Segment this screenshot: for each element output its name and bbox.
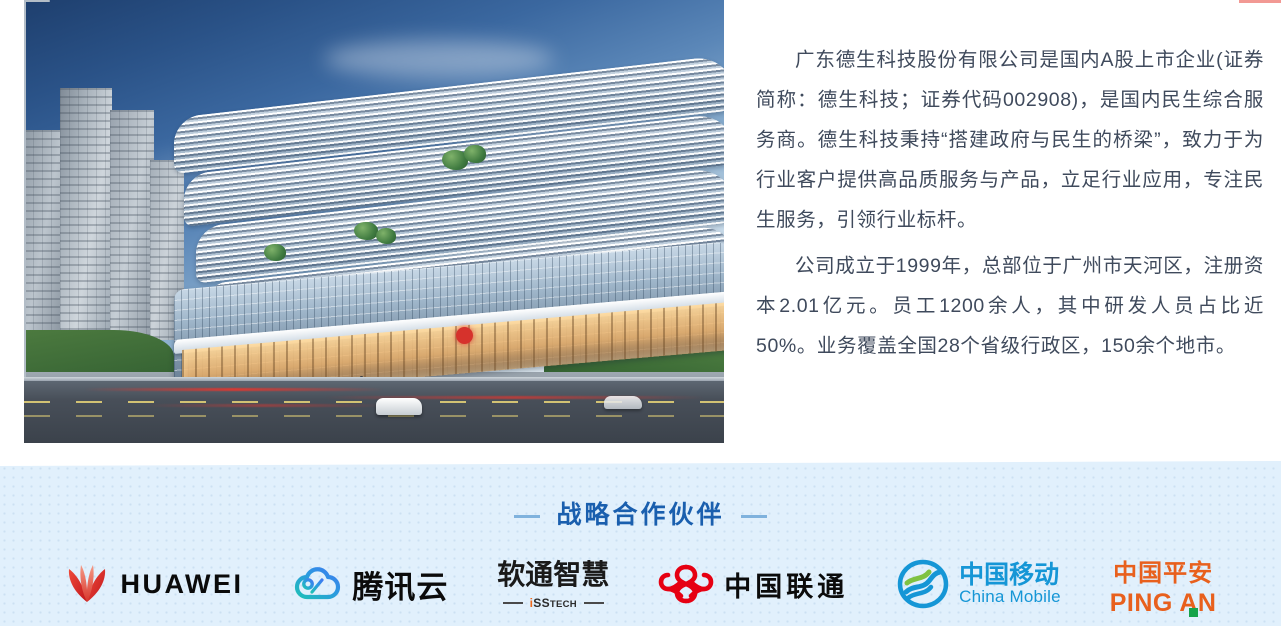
company-description: 广东德生科技股份有限公司是国内A股上市企业(证券简称：德生科技；证券代码0029… xyxy=(756,40,1264,366)
car xyxy=(604,396,642,409)
shop-sign-icon xyxy=(456,327,473,344)
china-mobile-name-cn: 中国移动 xyxy=(959,562,1061,589)
ping-an-name-cn: 中国平安 xyxy=(1113,553,1213,588)
isstech-tech: TECH xyxy=(550,599,577,610)
strategic-partners-section: 战略合作伙伴 xyxy=(0,455,1281,626)
tencent-cloud-icon xyxy=(292,564,342,604)
about-paragraph-2: 公司成立于1999年，总部位于广州市天河区，注册资本2.01亿元。员工1200余… xyxy=(756,246,1264,366)
isstech-subtitle: iSSTECH xyxy=(503,596,604,610)
china-unicom-name: 中国联通 xyxy=(724,565,848,604)
china-mobile-name-en: China Mobile xyxy=(959,588,1061,606)
isstech-name-cn: 软通智慧 xyxy=(497,553,609,593)
light-trail xyxy=(84,388,384,391)
about-paragraph-1: 广东德生科技股份有限公司是国内A股上市企业(证券简称：德生科技；证券代码0029… xyxy=(756,40,1264,240)
headquarters-building-image xyxy=(24,0,724,443)
terrace-tree xyxy=(376,228,396,244)
ping-an-name-en: PING AN xyxy=(1110,589,1217,618)
subtitle-dash-left xyxy=(503,602,523,604)
partner-logo-china-mobile[interactable]: 中国移动 China Mobile xyxy=(897,553,1061,615)
street-lamp xyxy=(24,100,26,186)
huawei-wordmark: HUAWEI xyxy=(120,569,243,600)
terrace-tree xyxy=(354,222,378,240)
terrace-tree xyxy=(264,244,286,261)
partner-logo-china-unicom[interactable]: 中国联通 xyxy=(658,553,848,615)
tencent-cloud-name: 腾讯云 xyxy=(352,562,448,607)
title-dash-left xyxy=(514,515,540,518)
subtitle-dash-right xyxy=(584,602,604,604)
isstech-ss: SS xyxy=(533,596,550,610)
lane-marking xyxy=(24,415,724,417)
ping-an-wordmark: PING AN xyxy=(1110,589,1217,617)
china-unicom-knot-icon xyxy=(658,561,714,607)
car xyxy=(376,398,422,415)
title-dash-right xyxy=(741,515,767,518)
huawei-flower-icon xyxy=(64,562,110,606)
partners-section-title: 战略合作伙伴 xyxy=(0,495,1281,531)
partner-logo-row: HUAWEI 腾讯云 软通智慧 xyxy=(0,548,1281,620)
partner-logo-huawei[interactable]: HUAWEI xyxy=(64,553,243,615)
ping-an-accent-square xyxy=(1189,608,1198,617)
partner-logo-isstech[interactable]: 软通智慧 iSSTECH xyxy=(497,553,609,615)
page-root: 广东德生科技股份有限公司是国内A股上市企业(证券简称：德生科技；证券代码0029… xyxy=(0,0,1281,626)
residential-highrise xyxy=(110,110,154,338)
partner-logo-ping-an[interactable]: 中国平安 PING AN xyxy=(1110,553,1217,615)
residential-highrise xyxy=(24,130,64,340)
terrace-tree xyxy=(464,145,486,163)
cloud xyxy=(324,40,554,78)
top-accent-bar xyxy=(1239,0,1281,3)
partner-logo-tencent-cloud[interactable]: 腾讯云 xyxy=(292,553,448,615)
light-trail xyxy=(144,404,384,407)
china-mobile-icon xyxy=(897,559,949,609)
residential-highrise xyxy=(60,88,112,338)
partners-title-text: 战略合作伙伴 xyxy=(556,501,724,529)
